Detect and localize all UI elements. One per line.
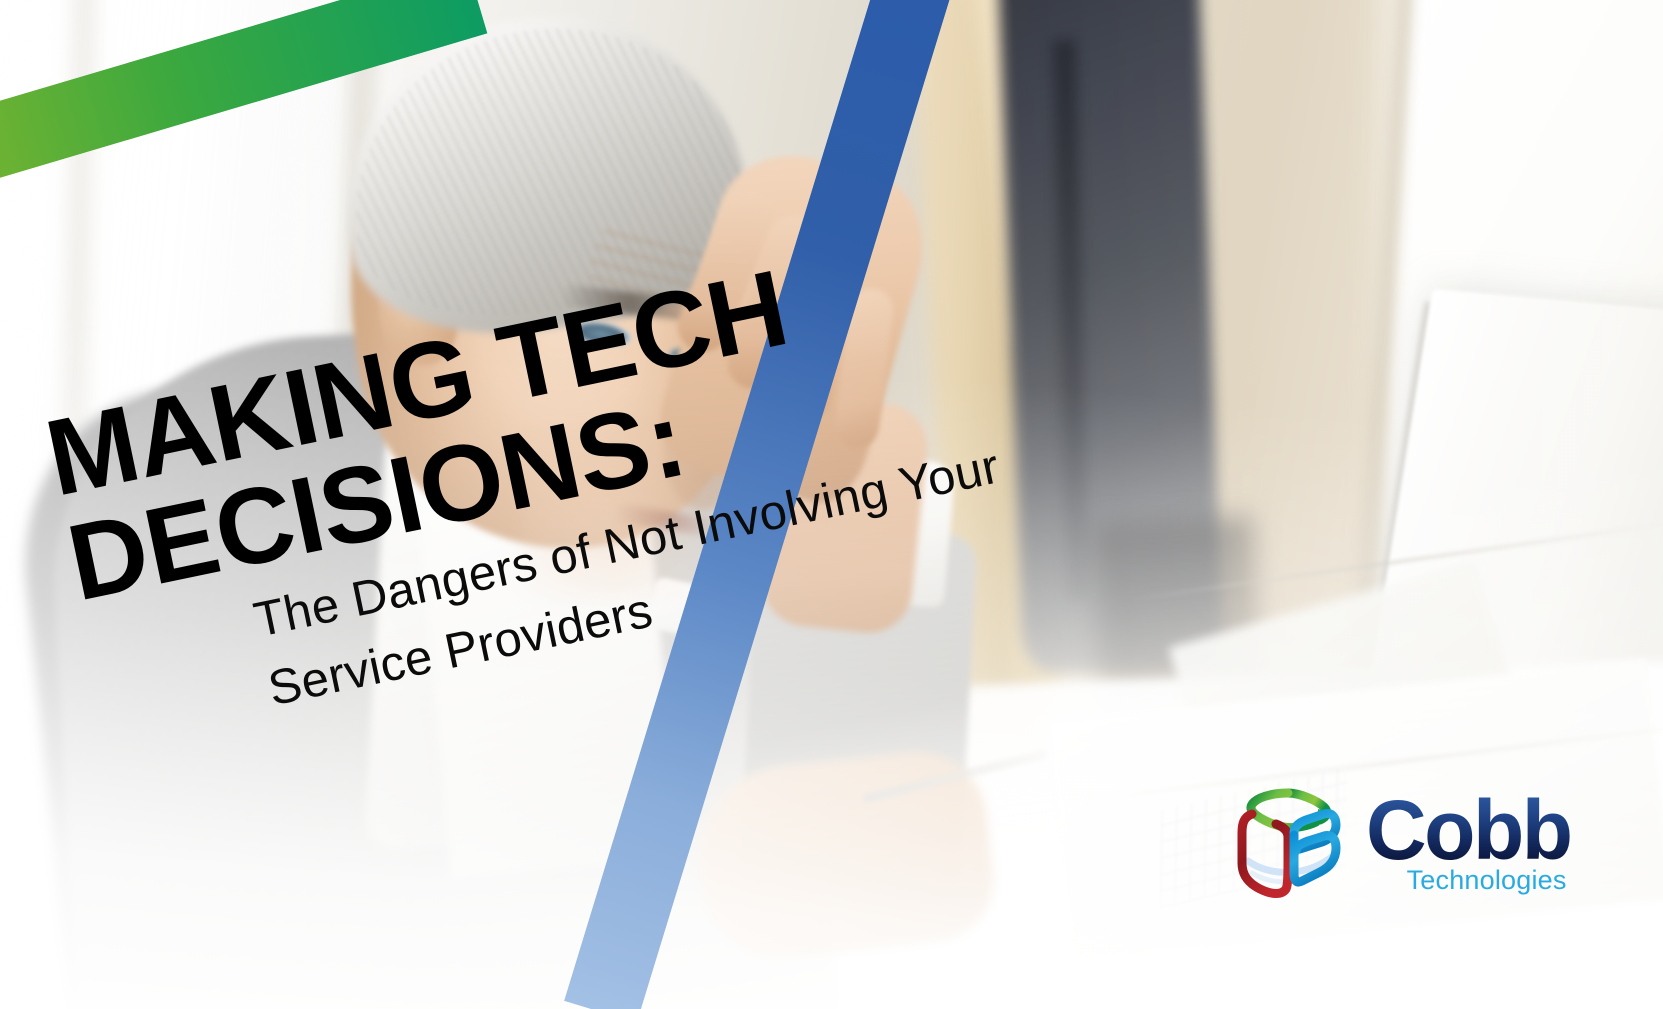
logo-wordmark: Cobb [1366,792,1571,869]
logo-text-group: Cobb Technologies [1366,792,1571,896]
cobb-cube-logo-icon [1230,777,1348,903]
marketing-banner: MAKING TECH DECISIONS: The Dangers of No… [0,0,1663,1009]
cobb-logo[interactable]: Cobb Technologies [1230,770,1630,910]
